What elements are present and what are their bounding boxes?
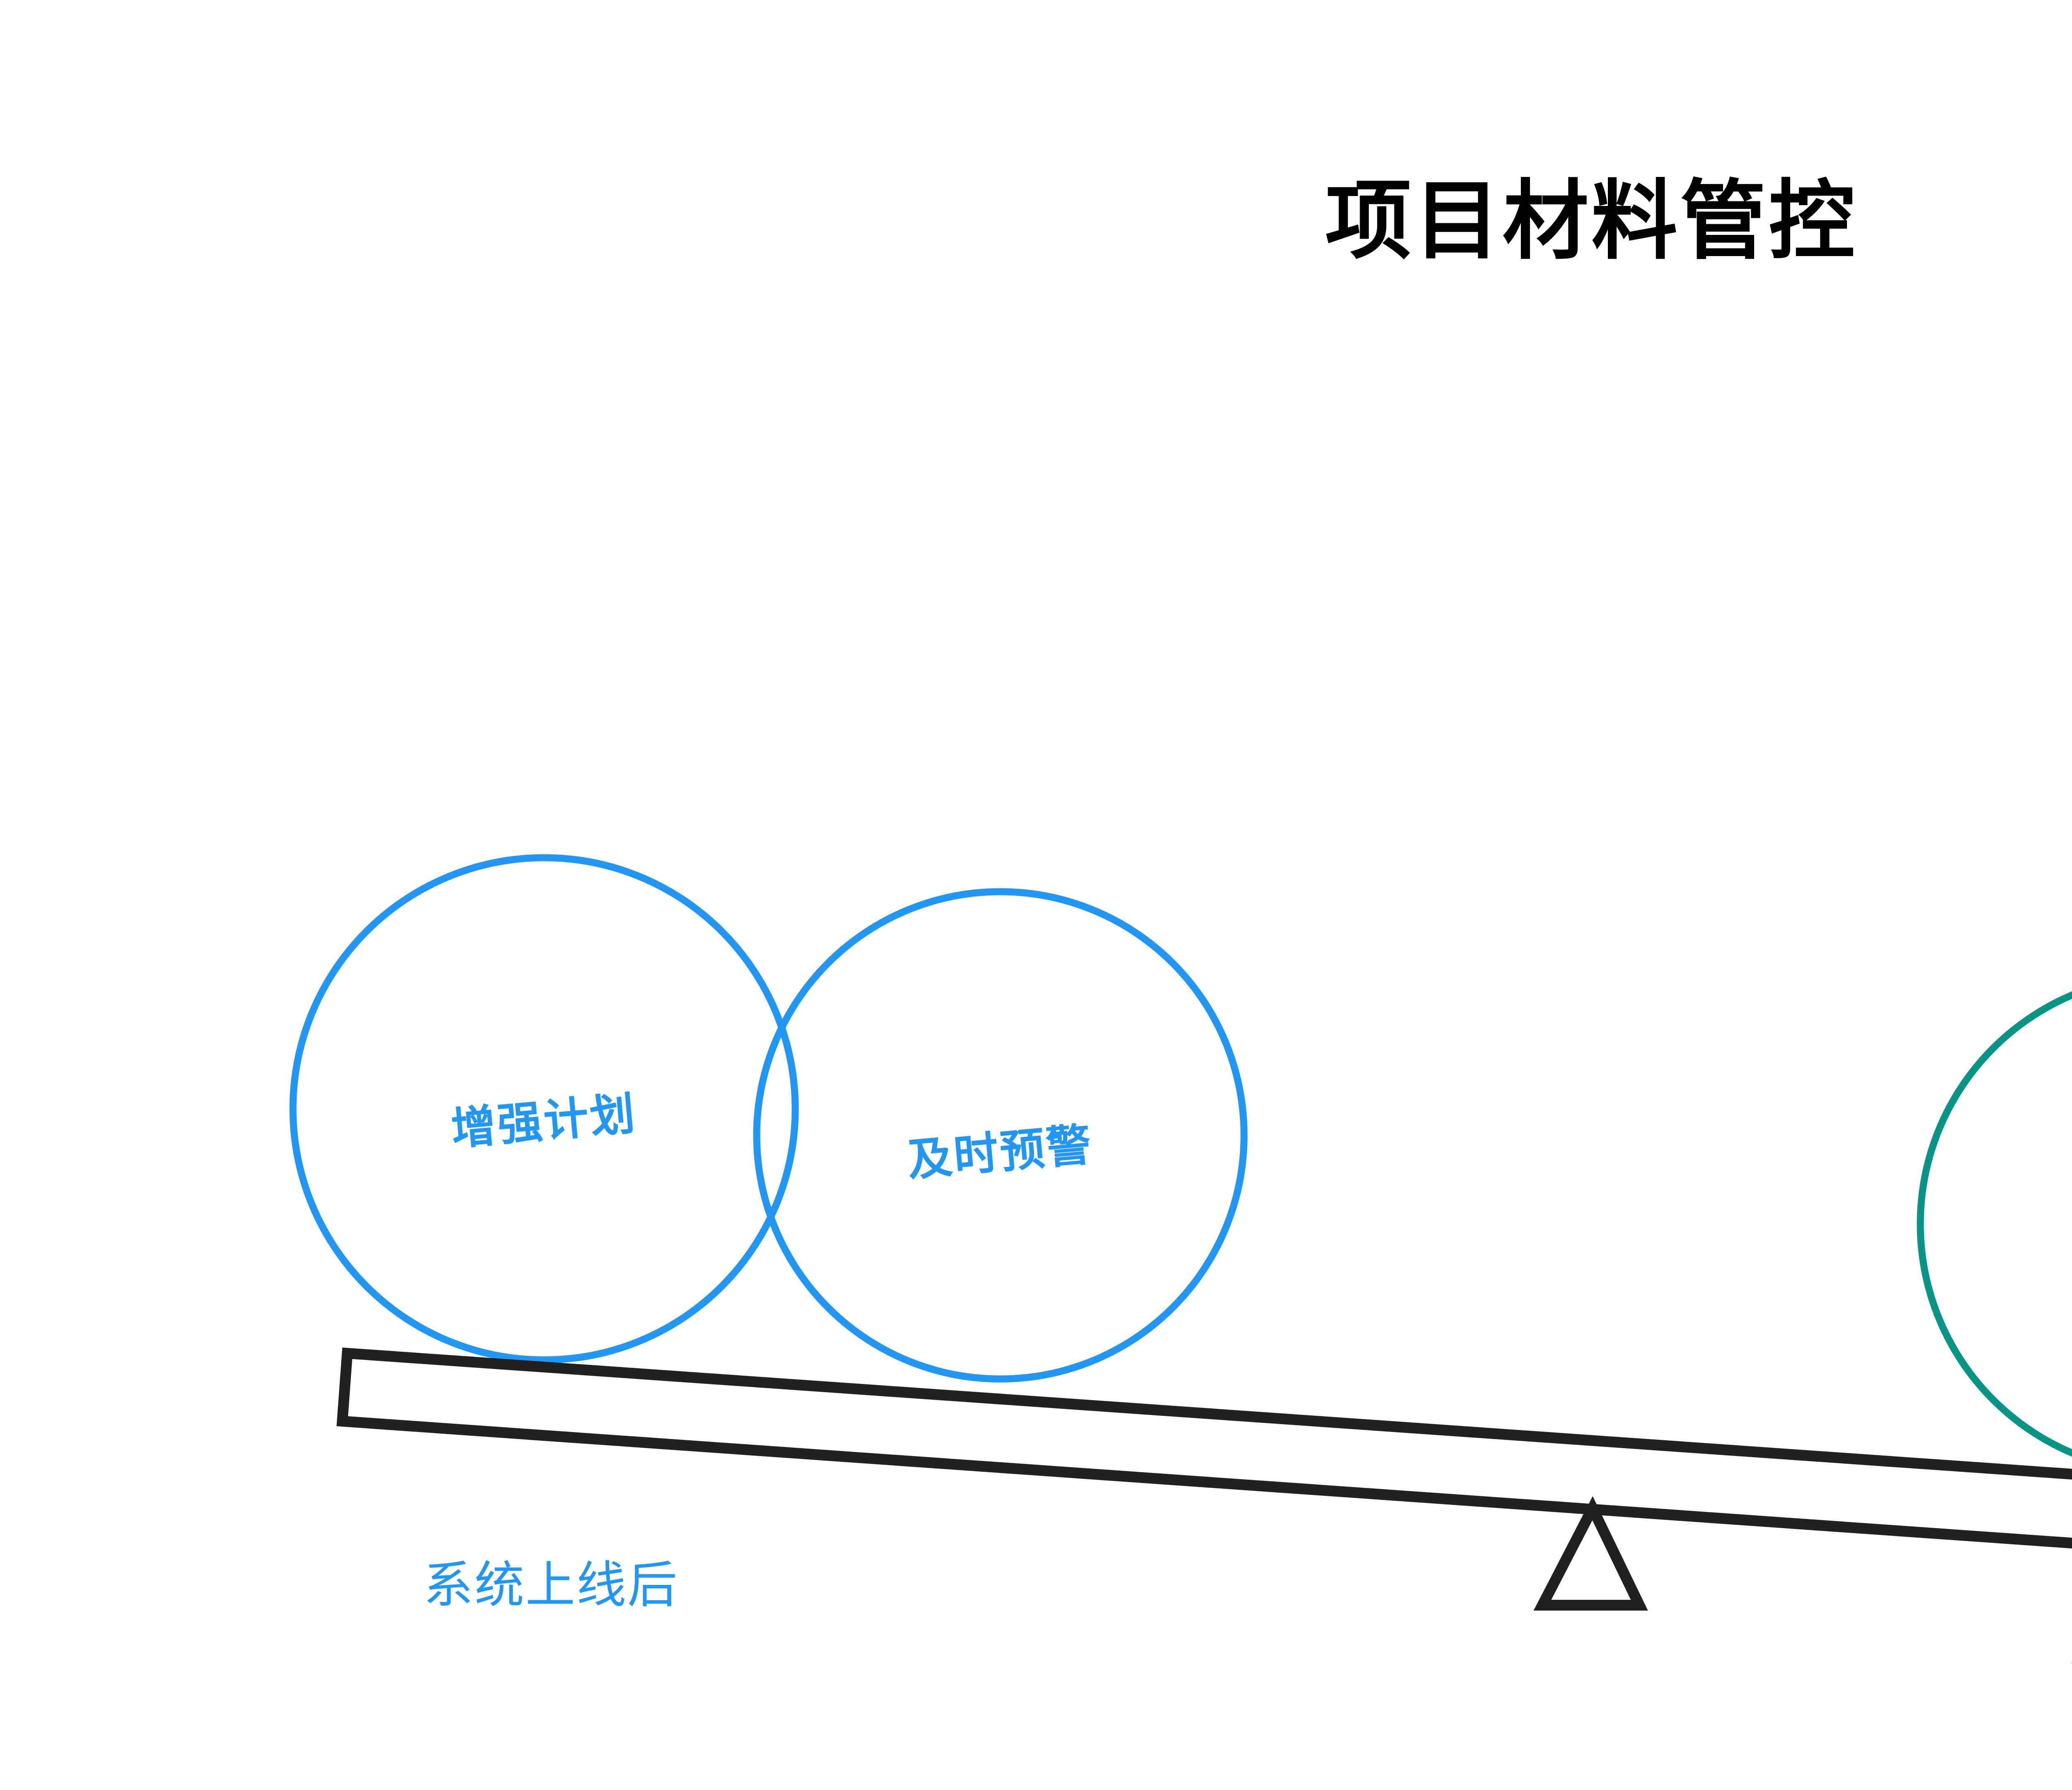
- bubble-circle-chao-e-shen-liao[interactable]: [1920, 975, 2072, 1473]
- slide-canvas: 项目材料管控 漏申料 超额申料 重复申料 增强计划 及时预警 系统上线后 系统上…: [0, 0, 2072, 1790]
- after-bubble-group: 增强计划 及时预警: [293, 858, 1244, 1379]
- side-label-after: 系统上线后: [424, 1557, 678, 1613]
- bubble-label-ji-shi-yu-jing: 及时预警: [905, 1119, 1095, 1185]
- fulcrum-triangle: [1542, 1508, 1639, 1605]
- before-bubble-group: 漏申料 超额申料 重复申料: [1920, 623, 2072, 1525]
- bubble-label-zeng-qiang-ji-hua: 增强计划: [449, 1088, 639, 1154]
- balance-diagram: 漏申料 超额申料 重复申料 增强计划 及时预警 系统上线后 系统上线前: [0, 0, 2072, 1790]
- side-label-before: 系统上线前: [2068, 1619, 2072, 1675]
